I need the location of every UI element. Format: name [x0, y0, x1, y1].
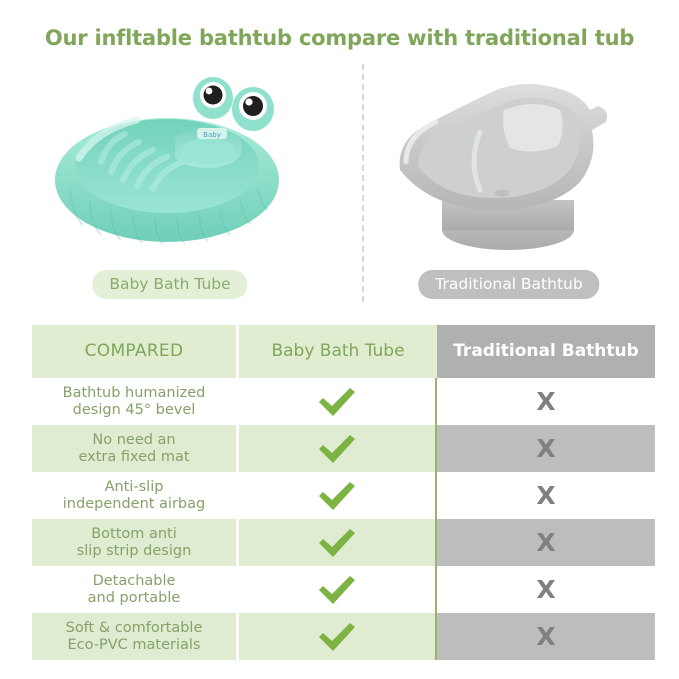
feature-line-1: Bathtub humanized — [63, 385, 206, 401]
table-row: Bathtub humanized design 45° bevel X — [32, 378, 655, 425]
table-row: Bottom anti slip strip design X — [32, 519, 655, 566]
feature-label: Soft & comfortable Eco-PVC materials — [32, 613, 236, 660]
baby-bath-tube-check-cell — [236, 378, 437, 425]
baby-bath-tube-check-cell — [236, 566, 437, 613]
feature-line-2: design 45° bevel — [73, 402, 196, 418]
header-baby-bath-tube: Baby Bath Tube — [236, 325, 437, 378]
product-comparison-hero: Baby Baby Bath Tube — [0, 58, 679, 313]
baby-bath-tube-check-cell — [236, 425, 437, 472]
table-row: Soft & comfortable Eco-PVC materials X — [32, 613, 655, 660]
check-icon — [316, 480, 358, 512]
traditional-bathtub-x-cell: X — [437, 472, 655, 519]
page-title: Our infltable bathtub compare with tradi… — [0, 26, 679, 50]
feature-label: Anti-slip independent airbag — [32, 472, 236, 519]
product-baby-bath-tube: Baby Baby Bath Tube — [0, 58, 340, 313]
traditional-bathtub-x-cell: X — [437, 519, 655, 566]
feature-line-1: Anti-slip — [105, 479, 164, 495]
baby-bath-tube-check-cell — [236, 613, 437, 660]
baby-bath-tube-label: Baby Bath Tube — [92, 270, 247, 299]
feature-line-2: independent airbag — [63, 496, 205, 512]
check-icon — [316, 621, 358, 653]
check-icon — [316, 527, 358, 559]
traditional-bathtub-x-cell: X — [437, 425, 655, 472]
feature-line-2: Eco-PVC materials — [68, 637, 201, 653]
traditional-bathtub-label: Traditional Bathtub — [418, 270, 599, 299]
x-mark-icon: X — [536, 623, 555, 651]
traditional-bathtub-x-cell: X — [437, 378, 655, 425]
comparison-table: COMPARED Baby Bath Tube Traditional Bath… — [32, 325, 655, 661]
traditional-bathtub-image — [384, 62, 634, 262]
feature-line-2: slip strip design — [77, 543, 192, 559]
feature-line-1: Bottom anti — [91, 526, 177, 542]
check-icon — [316, 574, 358, 606]
feature-label: No need an extra fixed mat — [32, 425, 236, 472]
table-row: Anti-slip independent airbag X — [32, 472, 655, 519]
table-row: Detachable and portable X — [32, 566, 655, 613]
check-icon — [316, 386, 358, 418]
table-row: No need an extra fixed mat X — [32, 425, 655, 472]
baby-bathtub-image: Baby — [45, 62, 295, 262]
traditional-bathtub-x-cell: X — [437, 566, 655, 613]
x-mark-icon: X — [536, 529, 555, 557]
feature-line-2: extra fixed mat — [78, 449, 189, 465]
header-traditional-bathtub: Traditional Bathtub — [437, 325, 655, 378]
product-traditional-bathtub: Traditional Bathtub — [339, 58, 679, 313]
check-icon — [316, 433, 358, 465]
feature-line-2: and portable — [88, 590, 181, 606]
feature-label: Bathtub humanized design 45° bevel — [32, 378, 236, 425]
header-compared: COMPARED — [32, 325, 236, 378]
x-mark-icon: X — [536, 388, 555, 416]
x-mark-icon: X — [536, 576, 555, 604]
baby-bath-tube-check-cell — [236, 519, 437, 566]
feature-line-1: Detachable — [93, 573, 176, 589]
x-mark-icon: X — [536, 435, 555, 463]
feature-line-1: Soft & comfortable — [66, 620, 203, 636]
svg-text:Baby: Baby — [203, 131, 221, 139]
feature-label: Bottom anti slip strip design — [32, 519, 236, 566]
table-header-row: COMPARED Baby Bath Tube Traditional Bath… — [32, 325, 655, 378]
feature-line-1: No need an — [92, 432, 175, 448]
x-mark-icon: X — [536, 482, 555, 510]
traditional-bathtub-x-cell: X — [437, 613, 655, 660]
baby-bath-tube-check-cell — [236, 472, 437, 519]
feature-label: Detachable and portable — [32, 566, 236, 613]
